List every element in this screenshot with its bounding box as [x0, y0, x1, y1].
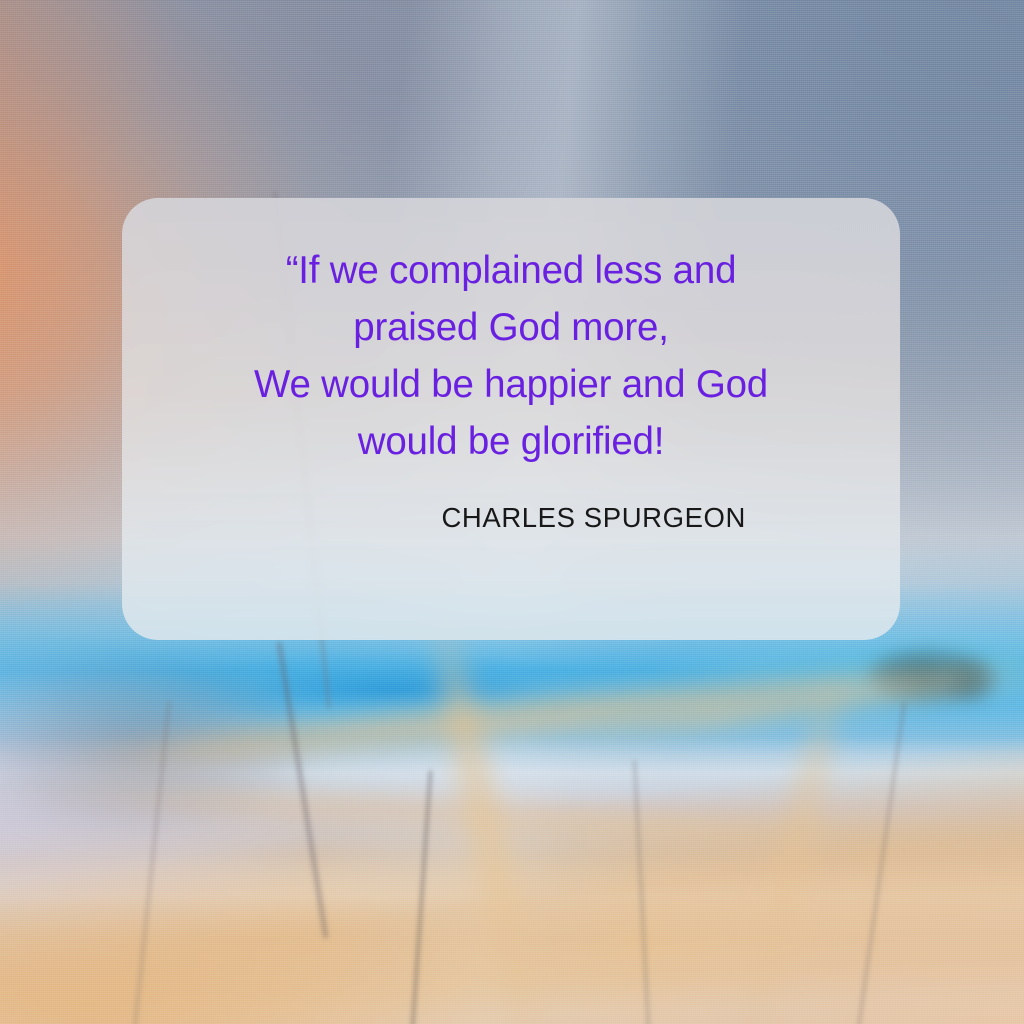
quote-attribution: CHARLES SPURGEON	[441, 502, 746, 534]
attribution-row: CHARLES SPURGEON	[164, 502, 858, 610]
quote-graphic: “If we complained less and praised God m…	[0, 0, 1024, 1024]
quote-card: “If we complained less and praised God m…	[122, 198, 900, 640]
quote-text: “If we complained less and praised God m…	[164, 242, 858, 470]
background-reed-line-5	[633, 760, 650, 1024]
background-reed-line-4	[857, 701, 906, 1024]
background-reed-line-3	[277, 641, 329, 938]
